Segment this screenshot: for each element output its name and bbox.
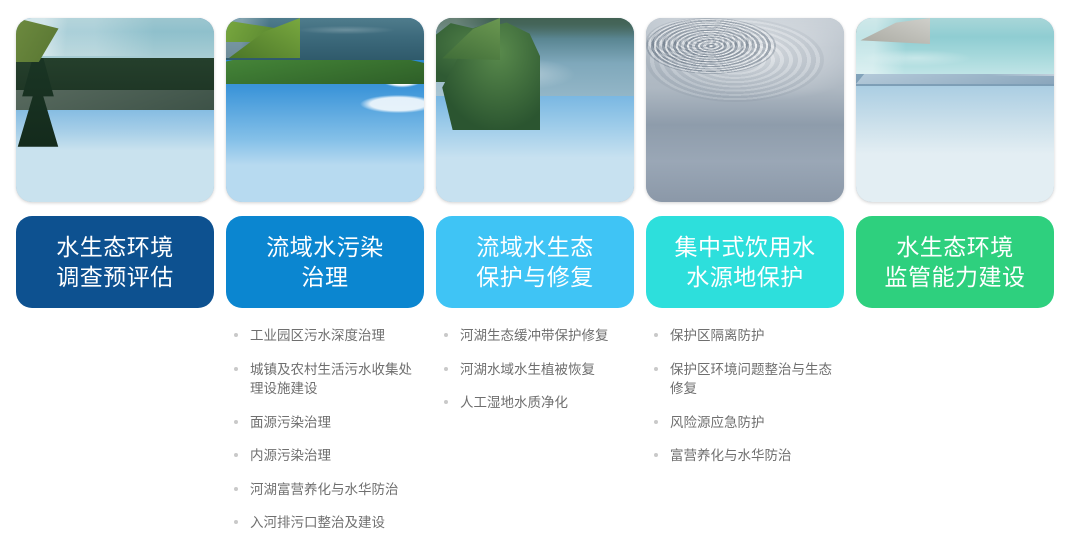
bullet-dot-icon xyxy=(234,520,238,524)
list-item-label: 内源污染治理 xyxy=(250,448,331,463)
program-column-1: 水生态环境 调查预评估 xyxy=(16,18,214,308)
list-item[interactable]: 面源污染治理 xyxy=(232,413,424,433)
bullet-dot-icon xyxy=(234,333,238,337)
program-list-4: 保护区隔离防护 保护区环境问题整治与生态修复 风险源应急防护 富营养化与水华防治 xyxy=(646,326,844,480)
program-title-3[interactable]: 流域水生态 保护与修复 xyxy=(436,216,634,308)
list-item[interactable]: 富营养化与水华防治 xyxy=(652,446,844,466)
list-item-label: 工业园区污水深度治理 xyxy=(250,328,385,343)
list-item[interactable]: 河湖富营养化与水华防治 xyxy=(232,480,424,500)
bullet-dot-icon xyxy=(654,453,658,457)
list-item[interactable]: 工业园区污水深度治理 xyxy=(232,326,424,346)
list-item-label: 河湖水域水生植被恢复 xyxy=(460,362,595,377)
snow-mountain-turquoise-river-photo xyxy=(856,18,1054,202)
bullet-dot-icon xyxy=(444,400,448,404)
list-item-label: 保护区环境问题整治与生态修复 xyxy=(670,362,832,397)
bullet-dot-icon xyxy=(444,333,448,337)
list-item-label: 富营养化与水华防治 xyxy=(670,448,792,463)
list-item[interactable]: 河湖生态缓冲带保护修复 xyxy=(442,326,634,346)
mountain-river-forest-photo xyxy=(16,18,214,202)
program-column-4: 集中式饮用水 水源地保护 保护区隔离防护 保护区环境问题整治与生态修复 风险源应… xyxy=(646,18,844,480)
bullet-dot-icon xyxy=(234,453,238,457)
list-item-label: 面源污染治理 xyxy=(250,415,331,430)
list-item[interactable]: 城镇及农村生活污水收集处理设施建设 xyxy=(232,360,424,399)
list-item-label: 入河排污口整治及建设 xyxy=(250,515,385,530)
list-item[interactable]: 入河排污口整治及建设 xyxy=(232,513,424,533)
water-ecology-program-board: 水生态环境 调查预评估 流域水污染 治理 工业园区污水深度治理 城镇及农村生活污… xyxy=(0,0,1080,540)
program-column-5: 水生态环境 监管能力建设 xyxy=(856,18,1054,308)
program-column-2: 流域水污染 治理 工业园区污水深度治理 城镇及农村生活污水收集处理设施建设 面源… xyxy=(226,18,424,547)
list-item[interactable]: 河湖水域水生植被恢复 xyxy=(442,360,634,380)
program-title-2[interactable]: 流域水污染 治理 xyxy=(226,216,424,308)
list-item[interactable]: 风险源应急防护 xyxy=(652,413,844,433)
list-item-label: 风险源应急防护 xyxy=(670,415,765,430)
list-item[interactable]: 保护区隔离防护 xyxy=(652,326,844,346)
list-item[interactable]: 人工湿地水质净化 xyxy=(442,393,634,413)
list-item-label: 河湖富营养化与水华防治 xyxy=(250,482,399,497)
program-title-1[interactable]: 水生态环境 调查预评估 xyxy=(16,216,214,308)
list-item-label: 城镇及农村生活污水收集处理设施建设 xyxy=(250,362,412,397)
list-item-label: 保护区隔离防护 xyxy=(670,328,765,343)
water-ripples-photo xyxy=(646,18,844,202)
program-list-3: 河湖生态缓冲带保护修复 河湖水域水生植被恢复 人工湿地水质净化 xyxy=(436,326,634,427)
list-item[interactable]: 内源污染治理 xyxy=(232,446,424,466)
bullet-dot-icon xyxy=(234,487,238,491)
list-item[interactable]: 保护区环境问题整治与生态修复 xyxy=(652,360,844,399)
list-item-label: 河湖生态缓冲带保护修复 xyxy=(460,328,609,343)
bullet-dot-icon xyxy=(234,367,238,371)
program-title-5[interactable]: 水生态环境 监管能力建设 xyxy=(856,216,1054,308)
program-list-2: 工业园区污水深度治理 城镇及农村生活污水收集处理设施建设 面源污染治理 内源污染… xyxy=(226,326,424,547)
water-treatment-plant-photo xyxy=(226,18,424,202)
bullet-dot-icon xyxy=(234,420,238,424)
calm-river-green-banks-photo xyxy=(436,18,634,202)
bullet-dot-icon xyxy=(654,420,658,424)
list-item-label: 人工湿地水质净化 xyxy=(460,395,568,410)
bullet-dot-icon xyxy=(654,367,658,371)
program-column-3: 流域水生态 保护与修复 河湖生态缓冲带保护修复 河湖水域水生植被恢复 人工湿地水… xyxy=(436,18,634,427)
bullet-dot-icon xyxy=(654,333,658,337)
bullet-dot-icon xyxy=(444,367,448,371)
program-title-4[interactable]: 集中式饮用水 水源地保护 xyxy=(646,216,844,308)
